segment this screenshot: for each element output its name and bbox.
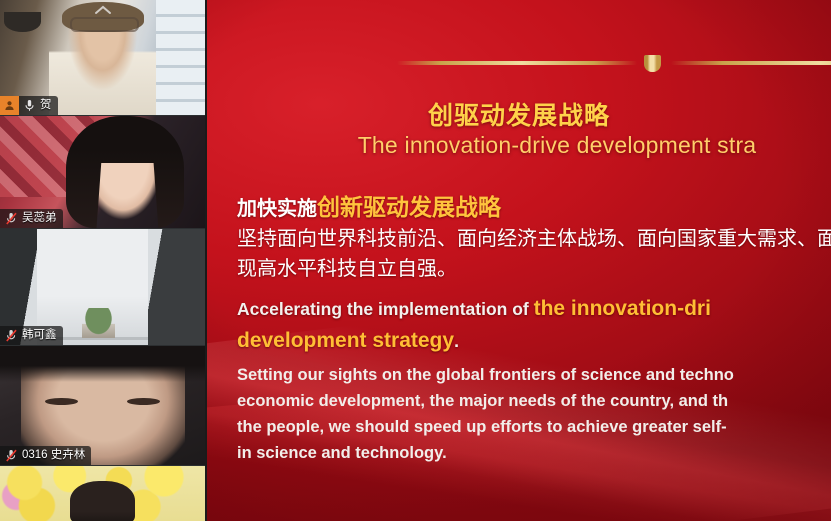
gold-divider-ornament (397, 52, 831, 74)
host-badge-icon (0, 96, 19, 115)
participant-name-bar: 韩可鑫 (0, 326, 63, 345)
participant-tile-4[interactable]: 0316 史卉林 (0, 346, 205, 465)
participant-tile-3[interactable]: 韩可鑫 (0, 229, 205, 345)
participant-name: 韩可鑫 (22, 326, 57, 345)
body-english-lead: Accelerating the implementation of (237, 299, 534, 319)
paragraph-line-2: economic development, the major needs of… (237, 388, 831, 414)
heading-chinese-highlight: 创新驱动发展战略 (317, 194, 501, 220)
participant-tile-2[interactable]: 吴蕊弟 (0, 116, 205, 228)
slide-title-chinese: 创驱动发展战略 (207, 96, 831, 132)
participant-name: 吴蕊弟 (22, 209, 57, 228)
meeting-screen-share-window: 贺 吴蕊弟 (0, 0, 831, 521)
heading-chinese-plain: 加快实施 (237, 198, 317, 220)
body-chinese-line-1: 坚持面向世界科技前沿、面向经济主体战场、面向国家重大需求、面向 (237, 224, 831, 254)
scene-hair (0, 346, 205, 382)
body-english-line-2: development strategy. (237, 325, 831, 357)
participant-name: 0316 史卉林 (22, 446, 85, 465)
shared-slide: 创驱动发展战略 The innovation-drive development… (207, 0, 831, 521)
participant-tile-1[interactable]: 贺 (0, 0, 205, 115)
video-feed (0, 466, 205, 521)
body-chinese-line-2: 现高水平科技自立自强。 (237, 254, 831, 284)
body-english-line-1: Accelerating the implementation of the i… (237, 293, 831, 325)
body-english-highlight-1: the innovation-dri (534, 297, 711, 320)
paragraph-line-1: Setting our sights on the global frontie… (237, 362, 831, 388)
ornament-bar-right (671, 61, 831, 65)
chevron-up-icon[interactable] (90, 2, 116, 18)
scene-glasses (70, 17, 140, 31)
mic-on-icon (22, 96, 37, 115)
ornament-bar-left (397, 61, 637, 65)
participant-name-bar: 0316 史卉林 (0, 446, 91, 465)
participant-name: 贺 (40, 96, 52, 115)
slide-paragraph: Setting our sights on the global frontie… (237, 362, 831, 466)
paragraph-line-3: the people, we should speed up efforts t… (237, 414, 831, 440)
scene-window (156, 0, 205, 115)
paragraph-line-4: in science and technology. (237, 440, 831, 466)
participant-name-bar: 贺 (0, 96, 58, 115)
slide-title-english: The innovation-drive development stra (207, 132, 831, 159)
body-english-highlight-2: development strategy (237, 329, 454, 352)
heading-chinese: 加快实施创新驱动发展战略 (237, 192, 831, 224)
body-english-period: . (454, 331, 459, 351)
participant-filmstrip[interactable]: 贺 吴蕊弟 (0, 0, 205, 521)
mic-muted-icon (0, 446, 19, 465)
scene-lamp (4, 12, 41, 33)
mic-muted-icon (0, 209, 19, 228)
ornament-emblem-icon (644, 55, 661, 72)
mic-muted-icon (0, 326, 19, 345)
slide-body: 加快实施创新驱动发展战略 坚持面向世界科技前沿、面向经济主体战场、面向国家重大需… (237, 192, 831, 466)
scene-plant (82, 308, 115, 338)
scene-head (70, 481, 136, 521)
participant-tile-5[interactable] (0, 466, 205, 521)
participant-name-bar: 吴蕊弟 (0, 209, 63, 228)
